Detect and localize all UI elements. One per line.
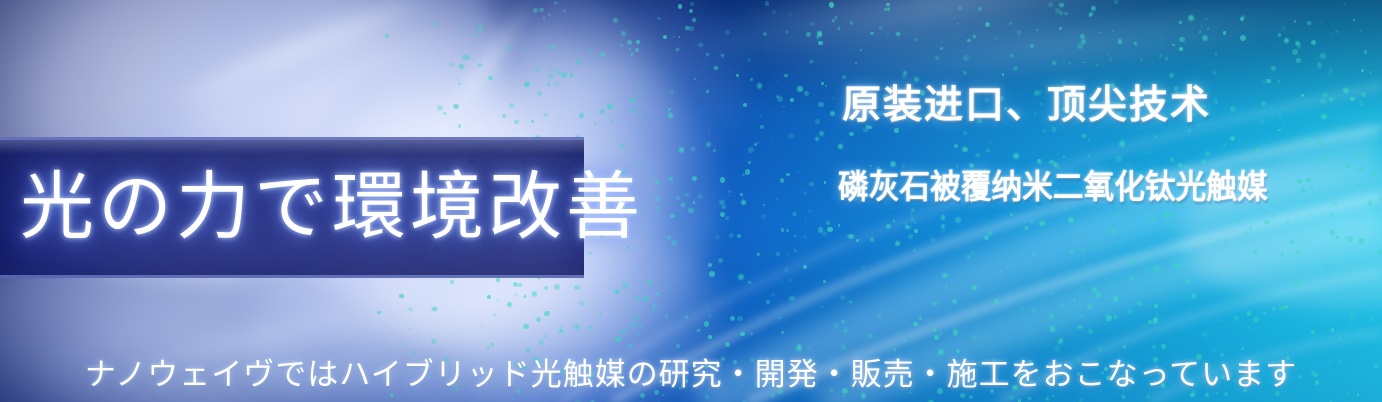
tagline-text: ナノウェイヴではハイブリッド光触媒の研究・開発・販売・施工をおこなっています — [0, 349, 1382, 394]
headline-text: 光の力で環境改善 — [20, 150, 580, 264]
promo-headline-secondary: 磷灰石被覆纳米二氧化钛光触媒 — [838, 160, 1268, 208]
hero-banner: 光の力で環境改善 原装进口、顶尖技术 磷灰石被覆纳米二氧化钛光触媒 ナノウェイヴ… — [0, 0, 1382, 402]
promo-headline-primary: 原装进口、顶尖技术 — [842, 74, 1211, 130]
